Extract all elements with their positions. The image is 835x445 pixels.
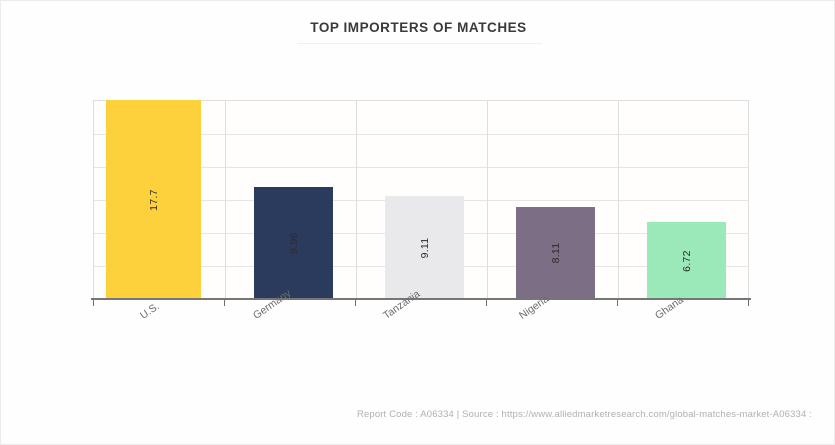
chart-card: TOP IMPORTERS OF MATCHES 17.7 9.96 9.11 … (0, 0, 835, 445)
bar-value-label: 6.72 (681, 250, 693, 272)
gridline-vertical (225, 101, 226, 299)
axis-tick (486, 300, 487, 306)
chart-title-block: TOP IMPORTERS OF MATCHES (1, 19, 835, 45)
bar-value-label: 17.7 (148, 189, 160, 211)
x-axis-label-us: U.S. (138, 300, 162, 322)
bar-ghana[interactable]: 6.72 (647, 222, 726, 299)
axis-tick (93, 300, 94, 306)
axis-tick (748, 300, 749, 306)
axis-tick (355, 300, 356, 306)
page-title: TOP IMPORTERS OF MATCHES (304, 20, 532, 45)
bar-nigeria[interactable]: 8.11 (516, 207, 595, 299)
gridline-vertical (618, 101, 619, 299)
bar-tanzania[interactable]: 9.11 (385, 196, 464, 299)
axis-tick (617, 300, 618, 306)
plot-area: 17.7 9.96 9.11 8.11 6.72 (93, 100, 749, 299)
title-divider (297, 43, 542, 44)
gridline-vertical (356, 101, 357, 299)
bar-value-label: 8.11 (550, 243, 562, 264)
gridline-vertical (487, 101, 488, 299)
bar-value-label: 9.11 (419, 237, 431, 258)
bar-us[interactable]: 17.7 (106, 100, 201, 299)
axis-tick (224, 300, 225, 306)
bar-value-label: 9.96 (288, 232, 300, 254)
bar-germany[interactable]: 9.96 (254, 187, 333, 299)
footer-source-text: Report Code : A06334 | Source : https://… (1, 409, 812, 420)
